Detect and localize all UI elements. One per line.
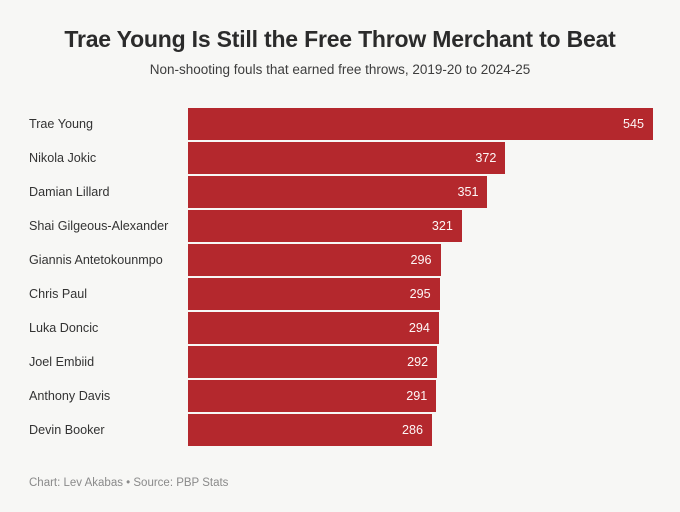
chart-header: Trae Young Is Still the Free Throw Merch…: [0, 0, 680, 79]
bar: 291: [188, 380, 436, 412]
bar: 351: [188, 176, 487, 208]
bar-category-label: Nikola Jokic: [29, 142, 96, 174]
bar-track: 291: [188, 380, 653, 412]
bar-track: 296: [188, 244, 653, 276]
bar-track: 372: [188, 142, 653, 174]
bar-row: Devin Booker286: [0, 414, 680, 448]
bar-category-label: Chris Paul: [29, 278, 87, 310]
chart-card: Trae Young Is Still the Free Throw Merch…: [0, 0, 680, 512]
bar: 372: [188, 142, 505, 174]
bar: 296: [188, 244, 441, 276]
bar-row: Shai Gilgeous-Alexander321: [0, 210, 680, 244]
bar-row: Joel Embiid292: [0, 346, 680, 380]
bar-value-label: 351: [457, 185, 487, 199]
bar-value-label: 545: [623, 117, 653, 131]
bar-track: 321: [188, 210, 653, 242]
bar-category-label: Trae Young: [29, 108, 93, 140]
bar: 545: [188, 108, 653, 140]
bar-row: Nikola Jokic372: [0, 142, 680, 176]
bar-category-label: Anthony Davis: [29, 380, 110, 412]
bar-row: Luka Doncic294: [0, 312, 680, 346]
bar-value-label: 286: [402, 423, 432, 437]
bar: 321: [188, 210, 462, 242]
chart-subtitle: Non-shooting fouls that earned free thro…: [30, 62, 650, 78]
bar-row: Giannis Antetokounmpo296: [0, 244, 680, 278]
bar: 292: [188, 346, 437, 378]
chart-credit: Chart: Lev Akabas • Source: PBP Stats: [29, 477, 228, 489]
bar-value-label: 296: [411, 253, 441, 267]
bar-track: 295: [188, 278, 653, 310]
bar-value-label: 372: [475, 151, 505, 165]
bar-row: Anthony Davis291: [0, 380, 680, 414]
bar-track: 286: [188, 414, 653, 446]
bar-value-label: 295: [410, 287, 440, 301]
bar-row: Trae Young545: [0, 108, 680, 142]
bar-track: 545: [188, 108, 653, 140]
bar-row: Damian Lillard351: [0, 176, 680, 210]
bar: 295: [188, 278, 440, 310]
bar-track: 351: [188, 176, 653, 208]
bar-chart-plot-area: Trae Young545Nikola Jokic372Damian Lilla…: [0, 108, 680, 448]
bar-row: Chris Paul295: [0, 278, 680, 312]
bar-category-label: Giannis Antetokounmpo: [29, 244, 163, 276]
bar-track: 292: [188, 346, 653, 378]
chart-title: Trae Young Is Still the Free Throw Merch…: [30, 26, 650, 52]
bar-category-label: Joel Embiid: [29, 346, 94, 378]
bar: 286: [188, 414, 432, 446]
bar-value-label: 291: [406, 389, 436, 403]
bar-value-label: 292: [407, 355, 437, 369]
bar: 294: [188, 312, 439, 344]
bar-category-label: Devin Booker: [29, 414, 105, 446]
bar-value-label: 294: [409, 321, 439, 335]
bar-category-label: Luka Doncic: [29, 312, 98, 344]
bar-track: 294: [188, 312, 653, 344]
bar-value-label: 321: [432, 219, 462, 233]
bar-category-label: Shai Gilgeous-Alexander: [29, 210, 168, 242]
bar-category-label: Damian Lillard: [29, 176, 110, 208]
